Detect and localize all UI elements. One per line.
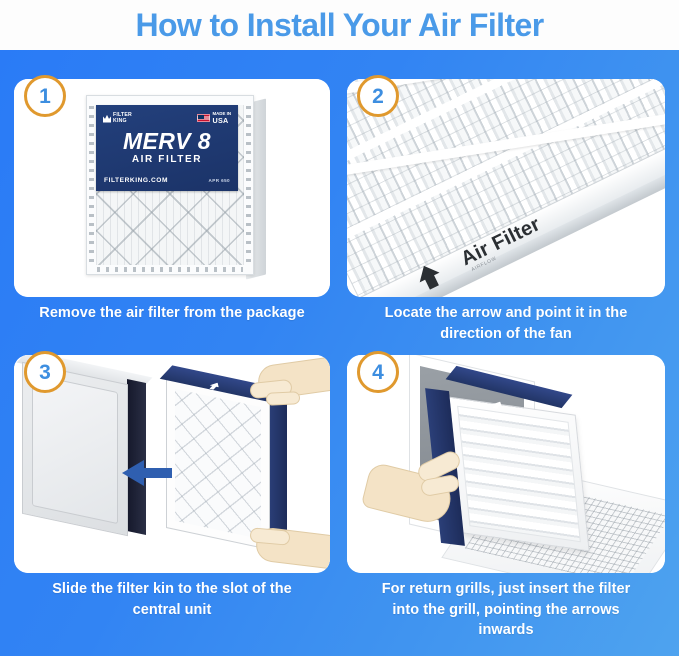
direction-arrow-icon <box>122 460 172 486</box>
finger <box>266 391 301 406</box>
step-number-badge-2: 2 <box>357 75 399 117</box>
step-number-badge-4: 4 <box>357 351 399 393</box>
step-caption-4-line-2: into the grill, pointing the arrows <box>392 602 619 618</box>
louver-slats <box>457 406 581 542</box>
made-in-usa-text: MADE IN USA <box>212 112 231 125</box>
brand-name: FILTER KING <box>113 113 132 124</box>
steps-grid: FILTER KING MADE IN USA <box>0 50 679 656</box>
central-unit-slot <box>127 379 146 535</box>
air-filter-subtitle: AIR FILTER <box>96 155 238 165</box>
slide-filter-illustration <box>14 355 330 573</box>
product-label: FILTER KING MADE IN USA <box>96 105 238 191</box>
brand-line-2: KING <box>113 118 127 124</box>
step-card-3: 3 Slide the filter kin to the slot of th… <box>14 355 330 650</box>
return-grill-illustration <box>347 355 665 573</box>
infographic-page: How to Install Your Air Filter <box>0 0 679 656</box>
frame-ticks-left <box>89 106 94 264</box>
page-header: How to Install Your Air Filter <box>0 0 679 50</box>
arrow-head <box>122 460 144 486</box>
frame-ticks-bottom <box>97 267 243 272</box>
step-caption-1: Remove the air filter from the package <box>14 303 330 324</box>
step-caption-2: Locate the arrow and point it in the dir… <box>347 303 665 344</box>
step-4-image-card <box>347 355 665 573</box>
step-1-image-card: FILTER KING MADE IN USA <box>14 79 330 297</box>
filter-king-logo: FILTER KING <box>103 113 132 124</box>
arrow-shaft <box>142 468 172 478</box>
merv-rating: MERV 8 <box>96 130 238 153</box>
arrow-shaft <box>424 273 439 290</box>
hand-lower <box>246 523 330 573</box>
filter-corner-illustration: Air Filter AIRFLOW <box>347 79 665 297</box>
country-label: USA <box>212 117 231 125</box>
label-bottom-row: FILTERKING.COM APR 650 <box>104 177 230 184</box>
step-caption-3-line-2: central unit <box>133 602 212 618</box>
merv-filter-illustration: FILTER KING MADE IN USA <box>14 79 330 297</box>
step-card-1: FILTER KING MADE IN USA <box>14 79 330 374</box>
crown-icon <box>103 115 111 123</box>
usa-flag-icon <box>197 114 210 122</box>
step-caption-3-line-1: Slide the filter kin to the slot of the <box>52 581 292 597</box>
website-url: FILTERKING.COM <box>104 177 168 184</box>
page-title: How to Install Your Air Filter <box>135 9 543 41</box>
step-2-image-card: Air Filter AIRFLOW <box>347 79 665 297</box>
air-filter-product: FILTER KING MADE IN USA <box>86 95 264 277</box>
step-caption-4-line-3: inwards <box>478 622 533 638</box>
step-caption-2-line-1: Locate the arrow and point it in the <box>385 305 628 321</box>
made-in-usa-badge: MADE IN USA <box>197 112 231 125</box>
central-unit-panel <box>32 374 118 524</box>
step-caption-4-line-1: For return grills, just insert the filte… <box>382 581 631 597</box>
hand-inserting-filter <box>365 451 471 529</box>
angled-filter-body: Air Filter AIRFLOW <box>347 79 665 297</box>
hand-upper <box>242 361 330 417</box>
step-caption-2-line-2: direction of the fan <box>440 326 572 342</box>
step-card-4: 4 For return grills, just insert the fil… <box>347 355 665 650</box>
step-3-image-card <box>14 355 330 573</box>
step-card-2: Air Filter AIRFLOW 2 Locate the arrow an… <box>347 79 665 374</box>
label-top-row: FILTER KING MADE IN USA <box>103 110 231 127</box>
step-caption-4: For return grills, just insert the filte… <box>347 579 665 641</box>
step-caption-3: Slide the filter kin to the slot of the … <box>14 579 330 620</box>
step-number-badge-3: 3 <box>24 351 66 393</box>
frame-ticks-right <box>246 106 251 264</box>
step-number-badge-1: 1 <box>24 75 66 117</box>
apr-rating: APR 650 <box>209 178 230 183</box>
